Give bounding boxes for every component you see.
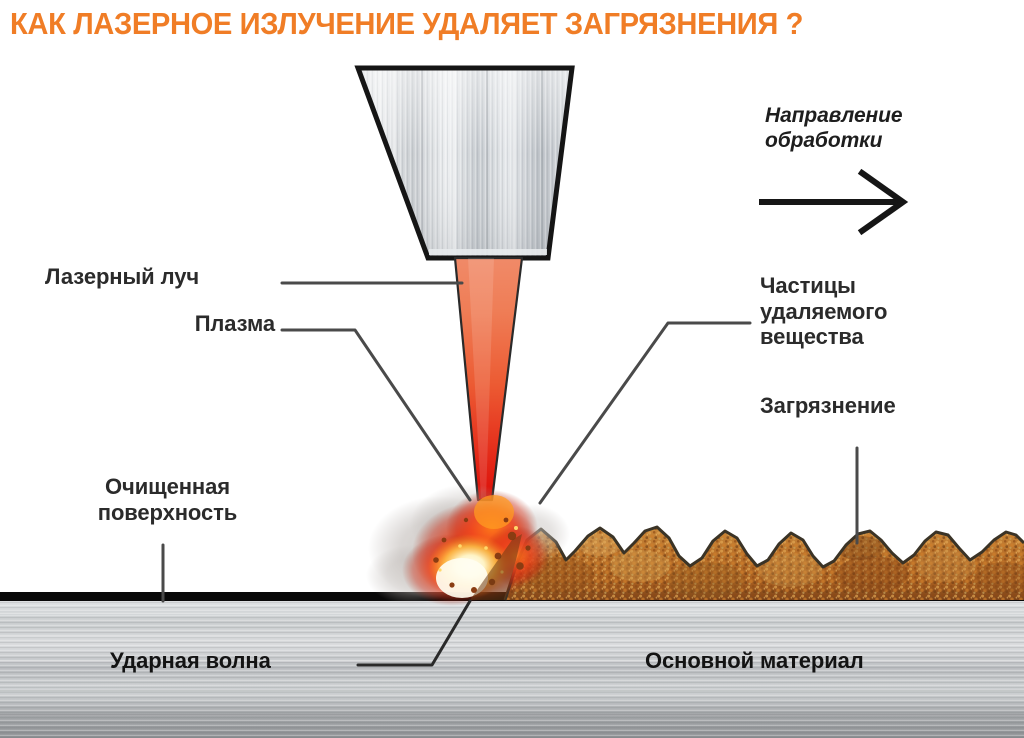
label-removed-particles: Частицы удаляемого вещества bbox=[760, 273, 1010, 350]
leader-particles bbox=[540, 323, 750, 503]
label-contamination: Загрязнение bbox=[760, 393, 1010, 419]
arrow-right-icon bbox=[762, 173, 903, 231]
page-title: КАК ЛАЗЕРНОЕ ИЗЛУЧЕНИЕ УДАЛЯЕТ ЗАГРЯЗНЕН… bbox=[10, 6, 959, 42]
leader-plasma bbox=[282, 330, 470, 500]
contamination-layer bbox=[500, 520, 1024, 605]
label-shock-wave: Ударная волна bbox=[110, 648, 370, 674]
label-laser-beam: Лазерный луч bbox=[45, 264, 275, 290]
laser-nozzle bbox=[355, 64, 577, 264]
laser-beam-shape bbox=[455, 258, 522, 500]
label-plasma: Плазма bbox=[45, 311, 275, 337]
diagram-canvas: КАК ЛАЗЕРНОЕ ИЗЛУЧЕНИЕ УДАЛЯЕТ ЗАГРЯЗНЕН… bbox=[0, 0, 1024, 738]
label-base-material: Основной материал bbox=[645, 648, 975, 674]
label-clean-surface: Очищенная поверхность bbox=[60, 474, 275, 525]
label-direction-of-processing: Направление обработки bbox=[765, 104, 995, 153]
